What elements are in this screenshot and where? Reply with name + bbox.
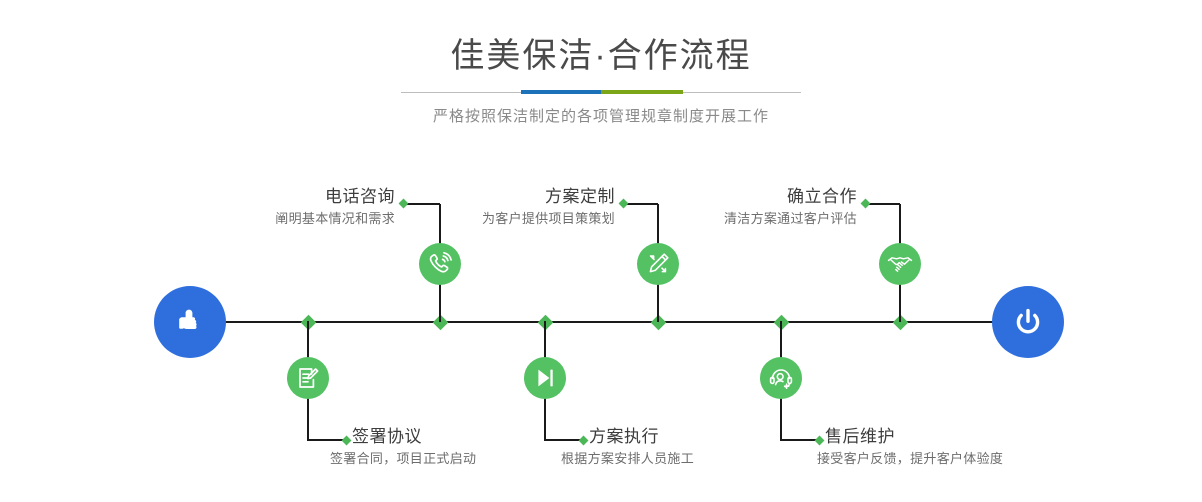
step-desc-3: 为客户提供项目策策划 bbox=[418, 209, 615, 229]
step-label-5: 确立合作 清洁方案通过客户评估 bbox=[660, 185, 857, 229]
step-icon-5[interactable] bbox=[879, 243, 921, 285]
step-title-6: 售后维护 bbox=[825, 425, 1003, 449]
step-desc-5: 清洁方案通过客户评估 bbox=[660, 209, 857, 229]
step-desc-2: 签署合同，项目正式启动 bbox=[330, 449, 476, 469]
step-label-1: 电话咨询 阐明基本情况和需求 bbox=[190, 185, 395, 229]
label-marker-1 bbox=[399, 199, 409, 209]
document-sign-icon bbox=[295, 365, 321, 391]
step-label-6: 售后维护 接受客户反馈，提升客户体验度 bbox=[825, 425, 1003, 469]
step-label-2: 签署协议 签署合同，项目正式启动 bbox=[352, 425, 476, 469]
step-title-2: 签署协议 bbox=[352, 425, 476, 449]
step-title-1: 电话咨询 bbox=[190, 185, 395, 209]
step-icon-6[interactable] bbox=[760, 357, 802, 399]
step-desc-6: 接受客户反馈，提升客户体验度 bbox=[817, 449, 1003, 469]
customer-support-add-icon bbox=[768, 365, 794, 391]
power-icon bbox=[1008, 302, 1048, 342]
phone-call-icon bbox=[427, 251, 453, 277]
pointing-hand-icon bbox=[170, 302, 210, 342]
flow-end-node[interactable] bbox=[992, 286, 1064, 358]
label-marker-5 bbox=[861, 199, 871, 209]
connector-elbow-5 bbox=[866, 203, 900, 205]
connector-elbow-3 bbox=[624, 203, 658, 205]
cooperation-flow-infographic: 佳美保洁·合作流程 严格按照保洁制定的各项管理规章制度开展工作 bbox=[0, 0, 1202, 502]
step-icon-3[interactable] bbox=[637, 243, 679, 285]
step-title-5: 确立合作 bbox=[660, 185, 857, 209]
handshake-icon bbox=[887, 251, 913, 277]
step-desc-4: 根据方案安排人员施工 bbox=[561, 449, 694, 469]
connector-elbow-6 bbox=[780, 439, 818, 441]
label-marker-2 bbox=[342, 435, 352, 445]
step-icon-1[interactable] bbox=[419, 243, 461, 285]
connector-elbow-2 bbox=[307, 439, 345, 441]
timeline: 电话咨询 阐明基本情况和需求 签署协议 bbox=[0, 0, 1202, 502]
step-label-3: 方案定制 为客户提供项目策策划 bbox=[418, 185, 615, 229]
step-desc-1: 阐明基本情况和需求 bbox=[190, 209, 395, 229]
label-marker-6 bbox=[815, 435, 825, 445]
flow-start-node[interactable] bbox=[154, 286, 226, 358]
step-icon-4[interactable] bbox=[524, 357, 566, 399]
step-icon-2[interactable] bbox=[287, 357, 329, 399]
play-execute-icon bbox=[532, 365, 558, 391]
step-title-4: 方案执行 bbox=[589, 425, 694, 449]
pencil-draft-icon bbox=[645, 251, 671, 277]
label-marker-3 bbox=[619, 199, 629, 209]
connector-elbow-4 bbox=[544, 439, 582, 441]
step-label-4: 方案执行 根据方案安排人员施工 bbox=[589, 425, 694, 469]
step-title-3: 方案定制 bbox=[418, 185, 615, 209]
label-marker-4 bbox=[579, 435, 589, 445]
